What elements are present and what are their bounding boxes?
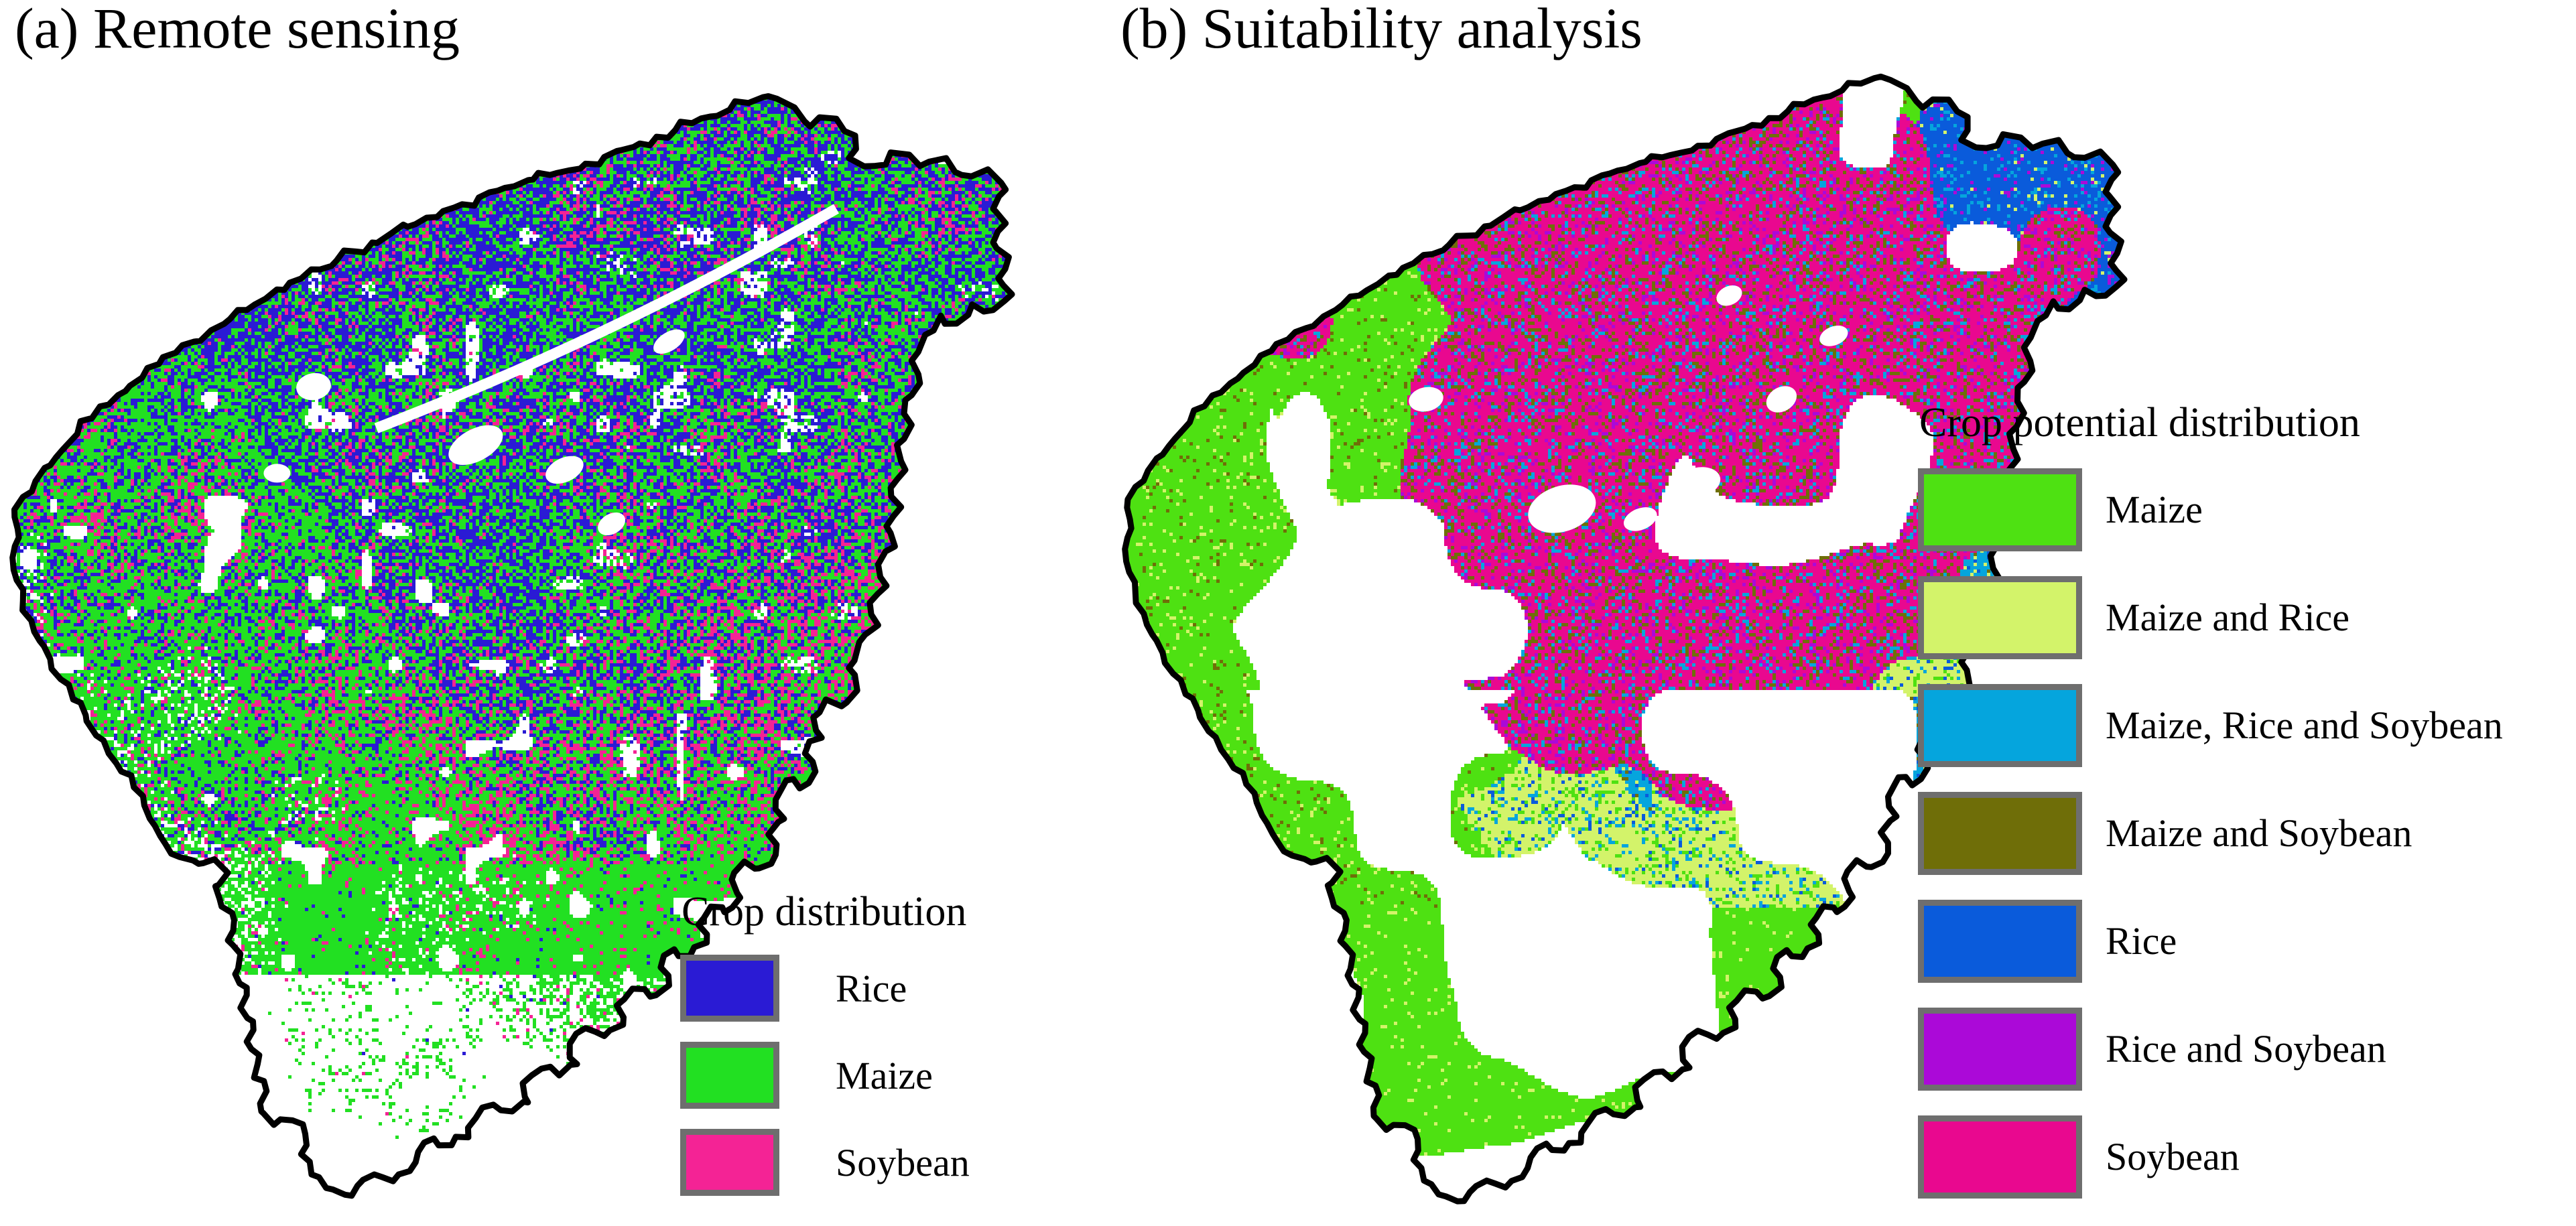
legend-item-maize-rice-and-soybean[interactable]: Maize, Rice and Soybean [1918,671,2503,779]
legend-label-soybean: Soybean [836,1140,970,1185]
legend-item-maize[interactable]: Maize [680,1032,970,1119]
swatch-soybean [680,1129,779,1196]
legend-label-rice-and-soybean: Rice and Soybean [2106,1026,2386,1071]
swatch-maize [1918,468,2082,551]
legend-item-rice[interactable]: Rice [1918,887,2503,995]
legend-label-maize: Maize [836,1053,933,1098]
legend-label-maize-and-rice: Maize and Rice [2106,595,2349,640]
swatch-maize-and-rice [1918,576,2082,659]
legend-b-title: Crop potential distribution [1919,402,2503,444]
swatch-rice-and-soybean [1918,1008,2082,1091]
legend-item-rice-and-soybean[interactable]: Rice and Soybean [1918,995,2503,1103]
panel-b-title: (b) Suitability analysis [1120,0,1643,62]
figure-root: (a) Remote sensing (b) Suitability analy… [0,0,2576,1226]
legend-label-rice: Rice [2106,918,2177,963]
crop-potential-distribution-legend: Crop potential distribution Maize Maize … [1918,402,2503,1211]
legend-label-maize-rice-and-soybean: Maize, Rice and Soybean [2106,703,2503,748]
crop-distribution-legend: Crop distribution Rice Maize Soybean [680,891,970,1206]
swatch-maize-and-soybean [1918,792,2082,875]
legend-a-title: Crop distribution [682,891,970,933]
legend-item-maize-and-soybean[interactable]: Maize and Soybean [1918,779,2503,887]
legend-label-maize-and-soybean: Maize and Soybean [2106,811,2412,856]
legend-item-maize-and-rice[interactable]: Maize and Rice [1918,563,2503,671]
swatch-maize-rice-and-soybean [1918,684,2082,767]
legend-item-rice[interactable]: Rice [680,945,970,1032]
legend-item-maize[interactable]: Maize [1918,456,2503,563]
swatch-maize [680,1042,779,1109]
legend-item-soybean[interactable]: Soybean [680,1119,970,1206]
legend-item-soybean[interactable]: Soybean [1918,1103,2503,1211]
legend-label-soybean: Soybean [2106,1134,2240,1179]
panel-a-title: (a) Remote sensing [15,0,460,62]
swatch-rice [680,955,779,1022]
swatch-rice [1918,900,2082,983]
swatch-soybean [1918,1115,2082,1199]
legend-label-rice: Rice [836,966,907,1011]
legend-label-maize: Maize [2106,487,2203,532]
